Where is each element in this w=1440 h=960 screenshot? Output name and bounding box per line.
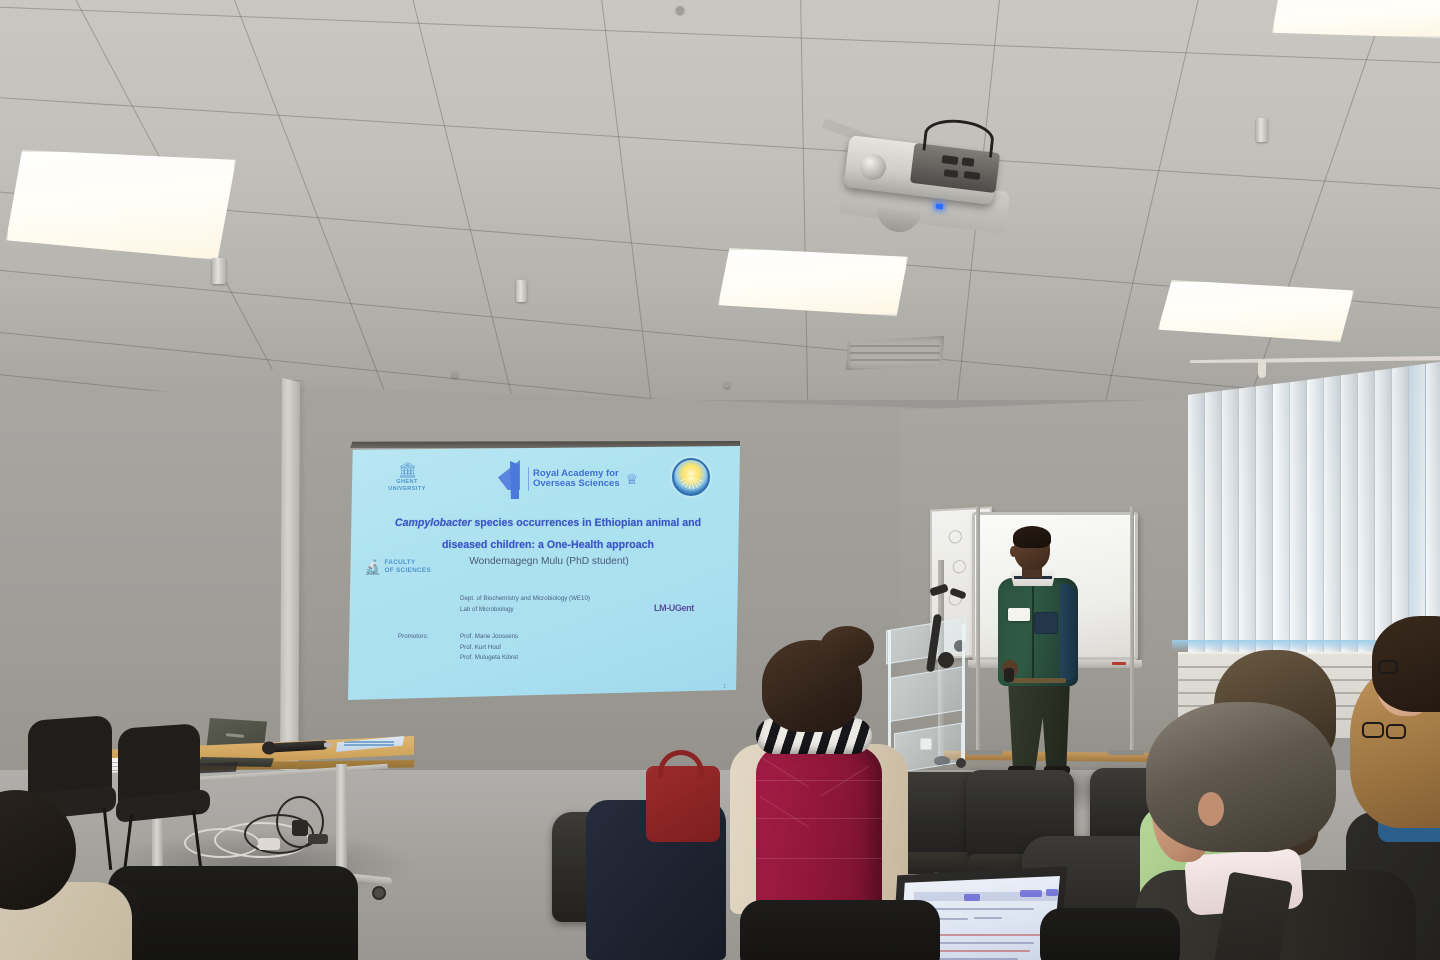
air-vent — [846, 336, 944, 370]
sun-emblem-icon — [672, 458, 710, 496]
slide-department: Dept. of Biochemistry and Microbiology (… — [460, 593, 590, 615]
promotor-item: Prof. Mulugeta Kibret — [460, 653, 518, 664]
crown-icon: ♕ — [626, 471, 639, 488]
ghent-logo-line1: GHENT — [386, 479, 428, 485]
red-handbag — [646, 766, 720, 842]
presenter-chest-pocket — [1034, 612, 1058, 634]
royal-academy-overseas-sciences-logo: Royal Academy for Overseas Sciences ♕ — [496, 458, 646, 500]
presenter-name-badge — [1008, 608, 1030, 621]
microphone-head — [938, 652, 954, 668]
table-caster — [372, 886, 386, 900]
whiteboard-leg — [976, 506, 980, 752]
sprinkler-head — [724, 382, 730, 388]
faculty-logo-line2: OF SCIENCES — [384, 567, 431, 575]
ceiling-projector — [840, 126, 1018, 221]
foreground-chair[interactable] — [108, 866, 358, 960]
ceiling-fixture — [1256, 118, 1268, 142]
projection-screen: 🏛 GHENT UNIVERSITY Royal Academy for Ove… — [348, 446, 740, 700]
wall-pillar — [280, 378, 300, 778]
ceiling — [0, 0, 1440, 400]
foreground-chair[interactable] — [1040, 908, 1180, 960]
presenter-hair — [1013, 526, 1051, 548]
blind-wand — [1258, 360, 1266, 378]
projection-screen-surface: 🏛 GHENT UNIVERSITY Royal Academy for Ove… — [348, 446, 740, 700]
slide-title-line2: diseased children: a One-Health approach — [370, 534, 726, 556]
ghent-university-logo: 🏛 GHENT UNIVERSITY — [386, 463, 428, 493]
flipchart-marking: ◯ — [948, 528, 963, 545]
ceiling-light-panel — [718, 248, 908, 316]
conference-room-photo: 🏛 GHENT UNIVERSITY Royal Academy for Ove… — [0, 0, 1440, 960]
classical-building-icon: 🏛 — [386, 463, 428, 478]
sprinkler-head — [452, 372, 458, 378]
slide-title-italic-genus: Campylobacter — [395, 517, 472, 529]
person-hair-bun — [820, 626, 874, 668]
slide-title-line1-rest: species occurrences in Ethiopian animal … — [471, 517, 701, 529]
whiteboard-marker — [1112, 662, 1126, 665]
person-hair — [762, 640, 862, 732]
lm-ugent-logo: LM-UGent — [654, 603, 694, 613]
ceiling-fixture — [516, 280, 527, 302]
slide-department-line2: Lab of Microbiology — [460, 604, 590, 615]
lectern-leg — [962, 624, 965, 764]
sail-icon — [496, 460, 524, 498]
audience-man-suit — [1146, 702, 1436, 960]
promotor-item: Prof. Kurt Houf — [460, 643, 518, 654]
logo-divider — [528, 467, 529, 491]
presenter — [986, 528, 1096, 770]
person-ear — [1198, 792, 1224, 826]
foreground-chair[interactable] — [740, 900, 940, 960]
projector-status-led — [936, 204, 944, 210]
presenter-sleeve — [1060, 584, 1076, 680]
royal-academy-line2: Overseas Sciences — [533, 479, 620, 490]
slide-department-line1: Dept. of Biochemistry and Microbiology (… — [460, 593, 590, 604]
presenter-trousers — [1008, 680, 1070, 770]
promotor-item: Prof. Marie Joossens — [460, 632, 518, 643]
lectern-caster — [956, 758, 966, 768]
ceiling-light-panel — [1272, 0, 1440, 38]
person-vest — [756, 746, 882, 918]
eyeglasses-icon — [1378, 660, 1398, 674]
presenter-ear — [1010, 546, 1017, 557]
ceiling-fixture — [212, 258, 226, 284]
whiteboard-foot — [1108, 750, 1144, 755]
presentation-clicker — [1004, 668, 1014, 682]
slide-title: Campylobacter species occurrences in Eth… — [370, 512, 726, 556]
promotors-label: Promotors: — [398, 633, 428, 640]
presentation-slide: 🏛 GHENT UNIVERSITY Royal Academy for Ove… — [348, 446, 740, 700]
audience-person-left — [0, 790, 136, 960]
whiteboard-leg — [1130, 506, 1134, 752]
person-hair — [1146, 702, 1336, 852]
sprinkler-head — [676, 6, 684, 14]
promotors-list: Prof. Marie Joossens Prof. Kurt Houf Pro… — [460, 632, 518, 664]
microphone-tip — [324, 742, 332, 747]
ghent-logo-line2: UNIVERSITY — [386, 486, 428, 492]
presenter-belt — [1010, 678, 1066, 683]
royal-academy-text: Royal Academy for Overseas Sciences — [533, 469, 620, 490]
slide-author: Wondemagegn Mulu (PhD student) — [378, 556, 720, 567]
